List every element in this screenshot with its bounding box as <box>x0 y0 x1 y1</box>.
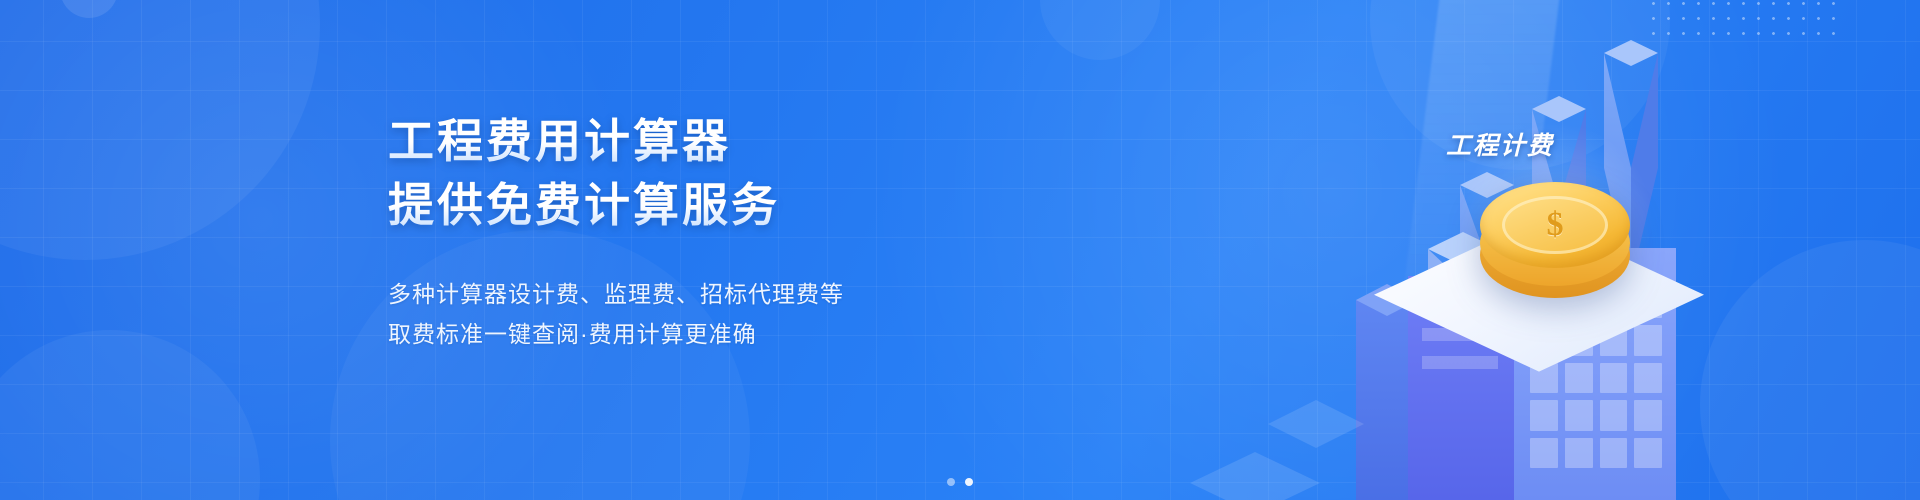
decorative-circle <box>0 330 260 500</box>
decorative-circle <box>0 0 320 260</box>
banner-copy: 工程费用计算器 提供免费计算服务 多种计算器设计费、监理费、招标代理费等 取费标… <box>388 112 1028 354</box>
illustration-label: 工程计费 <box>1446 126 1554 162</box>
carousel-dot-1[interactable] <box>947 478 955 486</box>
carousel-dots[interactable] <box>947 478 973 486</box>
carousel-dot-2[interactable] <box>965 478 973 486</box>
decorative-diamond <box>1190 452 1320 500</box>
banner-description-line-2: 取费标准一键查阅·费用计算更准确 <box>388 314 1028 354</box>
decorative-diamond <box>1268 400 1364 448</box>
banner-description: 多种计算器设计费、监理费、招标代理费等 取费标准一键查阅·费用计算更准确 <box>388 274 1028 354</box>
decorative-circle <box>60 0 118 18</box>
hero-banner: 工程费用计算器 提供免费计算服务 多种计算器设计费、监理费、招标代理费等 取费标… <box>0 0 1920 500</box>
currency-symbol: $ <box>1502 196 1608 254</box>
banner-title-line-2: 提供免费计算服务 <box>388 176 1028 234</box>
banner-title-line-1: 工程费用计算器 <box>388 112 1028 170</box>
banner-illustration: $ 工程计费 <box>1160 0 1920 500</box>
decorative-circle <box>1040 0 1160 60</box>
banner-description-line-1: 多种计算器设计费、监理费、招标代理费等 <box>388 274 1028 314</box>
coin-stack-icon: $ <box>1480 178 1630 298</box>
